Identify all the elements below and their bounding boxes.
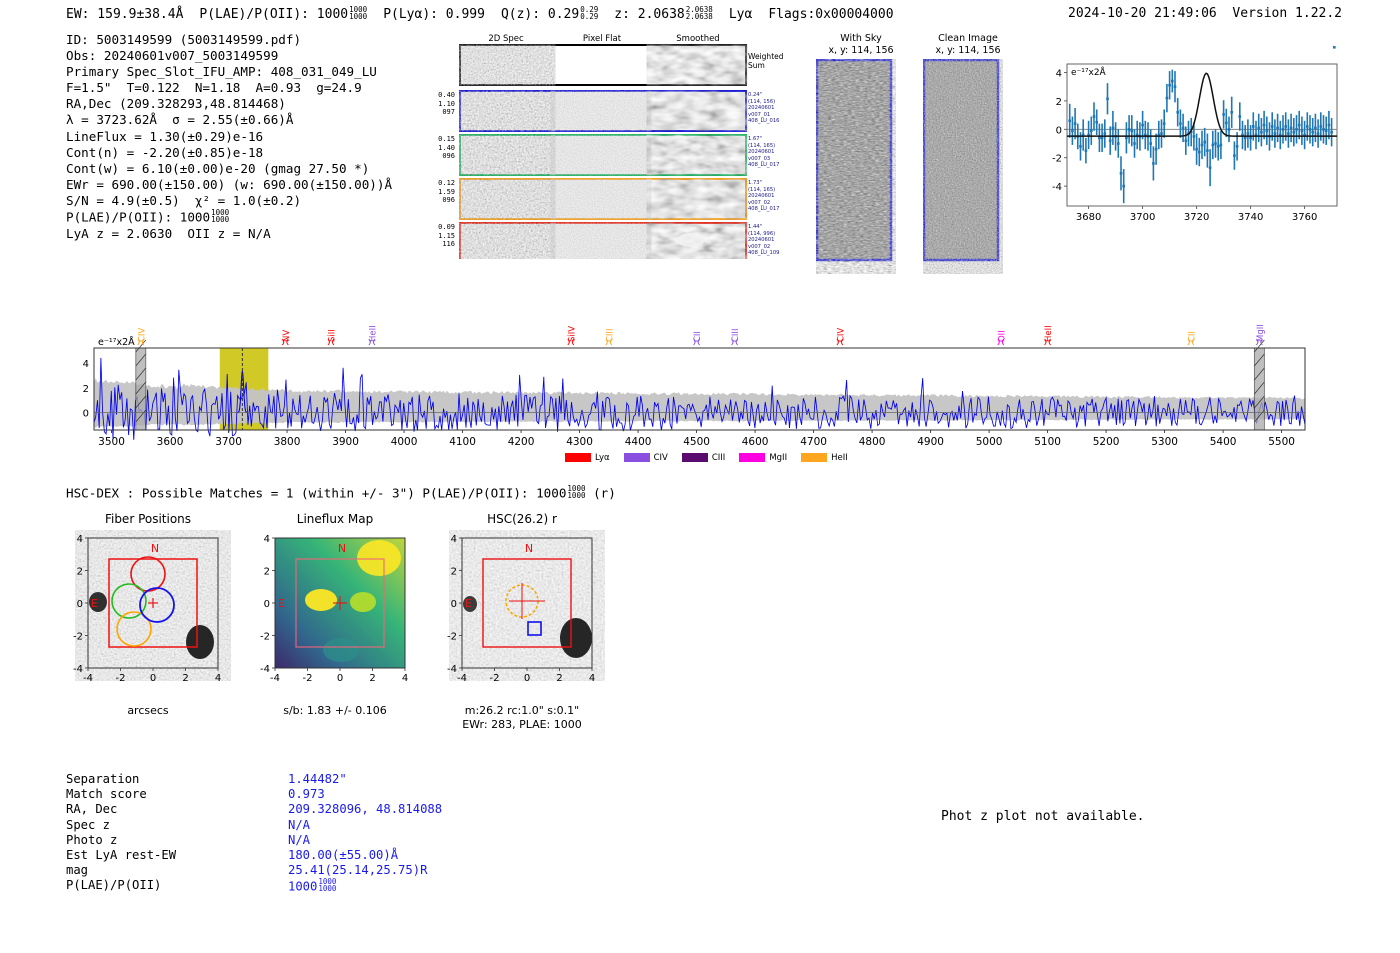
legend-label: MgII <box>769 453 787 463</box>
svg-text:-4: -4 <box>83 673 93 684</box>
svg-text:4300: 4300 <box>566 436 593 448</box>
svg-text:e⁻¹⁷x2Å: e⁻¹⁷x2Å <box>1071 66 1107 78</box>
svg-text:-4: -4 <box>73 664 83 675</box>
svg-text:E: E <box>278 597 285 610</box>
svg-text:3760: 3760 <box>1292 212 1317 223</box>
svg-text:-4: -4 <box>457 673 467 684</box>
exposure-meta: 1.44" (114, 996) 20240601 v007_02 408_LU… <box>748 224 779 257</box>
info-line: ID: 5003149599 (5003149599.pdf) <box>66 32 392 48</box>
svg-text:4: 4 <box>264 534 270 545</box>
info-line: EWr = 690.00(±150.00) (w: 690.00(±150.00… <box>66 177 392 193</box>
svg-text:4: 4 <box>83 359 89 370</box>
exposure-row <box>460 91 746 131</box>
hscdex-headline: HSC-DEX : Possible Matches = 1 (within +… <box>66 485 616 500</box>
svg-text:4200: 4200 <box>508 436 535 448</box>
svg-text:5300: 5300 <box>1151 436 1178 448</box>
photoz-unavailable-note: Phot z plot not available. <box>941 809 1145 824</box>
info-line: Cont(w) = 6.10(±0.00)e-20 (gmag 27.50 *) <box>66 161 392 177</box>
svg-text:4: 4 <box>451 534 457 545</box>
svg-text:3720: 3720 <box>1184 212 1209 223</box>
svg-text:-2: -2 <box>73 632 83 643</box>
cutout-coords: x, y: 114, 156 <box>923 45 1013 56</box>
match-detail-table: Separation 1.44482" Match score 0.973 RA… <box>66 772 526 902</box>
svg-text:5500: 5500 <box>1268 436 1295 448</box>
row-key: Spec z <box>66 818 110 833</box>
svg-text:3800: 3800 <box>274 436 301 448</box>
panel-lineflux-map: Lineflux Map NE-4-2024420-2-4 s/b: 1.83 … <box>245 512 435 526</box>
row-key: mag <box>66 863 88 878</box>
exposure-metric: 0.09 1.15 116 <box>433 223 455 249</box>
svg-text:3740: 3740 <box>1238 212 1263 223</box>
row-key: Est LyA rest-EW <box>66 848 176 863</box>
svg-text:4600: 4600 <box>742 436 769 448</box>
svg-text:2: 2 <box>556 673 562 684</box>
info-line: Cont(n) = -2.20(±0.85)e-18 <box>66 145 392 161</box>
svg-text:4900: 4900 <box>917 436 944 448</box>
svg-text:0: 0 <box>451 599 457 610</box>
row-value: 100010001000 <box>288 878 336 895</box>
table-row: Spec z N/A <box>66 818 526 833</box>
legend-swatch-heii <box>801 453 827 462</box>
header-flags: Flags:0x00004000 <box>768 7 893 22</box>
svg-text:4100: 4100 <box>449 436 476 448</box>
svg-text:4: 4 <box>402 673 408 684</box>
svg-text:5200: 5200 <box>1093 436 1120 448</box>
svg-text:4400: 4400 <box>625 436 652 448</box>
panel-xlabel: arcsecs <box>58 704 238 717</box>
svg-text:4800: 4800 <box>859 436 886 448</box>
row-value: 1.44482" <box>288 772 347 787</box>
panel-fiber-positions: Fiber Positions NE-4-2024420-2-4 arcsecs <box>58 512 248 526</box>
svg-text:3680: 3680 <box>1076 212 1101 223</box>
svg-text:4: 4 <box>589 673 595 684</box>
detection-info-block: ID: 5003149599 (5003149599.pdf) Obs: 202… <box>66 32 392 242</box>
legend-label: Lyα <box>595 453 610 463</box>
legend-label: CIII <box>712 453 725 463</box>
panel-title: Fiber Positions <box>58 512 238 526</box>
header-line-name: Lyα <box>729 7 752 22</box>
svg-text:-4: -4 <box>447 664 457 675</box>
table-row: Match score 0.973 <box>66 787 526 802</box>
svg-text:3700: 3700 <box>215 436 242 448</box>
info-plae: P(LAE)/P(OII): 100010001000 <box>66 209 392 225</box>
svg-text:4: 4 <box>77 534 83 545</box>
legend-swatch-civ <box>624 453 650 462</box>
weighted-sum-row <box>460 45 746 85</box>
exposure-row <box>460 179 746 219</box>
legend-label: CIV <box>654 453 668 463</box>
svg-text:-4: -4 <box>1052 182 1062 193</box>
svg-text:0: 0 <box>264 599 270 610</box>
svg-text:0: 0 <box>150 673 156 684</box>
svg-text:2: 2 <box>83 384 89 395</box>
row-value: 25.41(25.14,25.75)R <box>288 863 427 878</box>
svg-text:-4: -4 <box>260 664 270 675</box>
table-row: RA, Dec 209.328096, 48.814088 <box>66 802 526 817</box>
header-summary-line: EW: 159.9±38.4ÅP(LAE)/P(OII): 1000100010… <box>66 6 910 22</box>
version: Version 1.22.2 <box>1232 6 1342 21</box>
legend-label: HeII <box>831 453 848 463</box>
header-qz: Q(z): 0.290.290.29 <box>501 7 598 22</box>
info-line: S/N = 4.9(±0.5) χ² = 1.0(±0.2) <box>66 193 392 209</box>
svg-text:N: N <box>525 542 533 555</box>
exposure-meta: 1.73" (114, 165) 20240601 v007_02 408_LU… <box>748 180 779 213</box>
svg-text:-2: -2 <box>490 673 500 684</box>
exposure-metric: 0.40 1.10 097 <box>433 91 455 117</box>
row-key: RA, Dec <box>66 802 117 817</box>
svg-text:MgII: MgII <box>1256 324 1266 342</box>
exposure-meta: 1.67" (114, 165) 20240601 v007_03 408_LU… <box>748 136 779 169</box>
table-row: mag 25.41(25.14,25.75)R <box>66 863 526 878</box>
svg-text:N: N <box>151 542 159 555</box>
row-value: N/A <box>288 818 310 833</box>
panel-title: HSC(26.2) r <box>432 512 612 526</box>
timestamp: 2024-10-20 21:49:06 <box>1068 6 1217 21</box>
svg-text:2: 2 <box>1056 97 1062 108</box>
line-zoom-plot: e⁻¹⁷x2Å-4-202436803700372037403760 <box>1035 46 1345 246</box>
cutout-title: Clean Image <box>923 33 1013 44</box>
svg-text:-2: -2 <box>303 673 313 684</box>
svg-text:4: 4 <box>215 673 221 684</box>
svg-text:4: 4 <box>1056 69 1062 80</box>
svg-text:2: 2 <box>264 567 270 578</box>
svg-text:e⁻¹⁷x2Å: e⁻¹⁷x2Å <box>98 336 135 348</box>
svg-text:0: 0 <box>77 599 83 610</box>
panel-sublabel: EWr: 283, PLAE: 1000 <box>432 718 612 731</box>
svg-text:2: 2 <box>369 673 375 684</box>
exposure-row <box>460 223 746 259</box>
exposure-row <box>460 135 746 175</box>
svg-text:4000: 4000 <box>391 436 418 448</box>
svg-text:5000: 5000 <box>976 436 1003 448</box>
svg-text:-2: -2 <box>1052 154 1062 165</box>
exposure-meta: 0.24" (114, 156) 20240601 v007_01 408_LU… <box>748 92 779 125</box>
svg-text:E: E <box>465 597 472 610</box>
svg-text:3500: 3500 <box>98 436 125 448</box>
info-line: λ = 3723.62Å σ = 2.55(±0.66)Å <box>66 112 392 128</box>
panel-xlabel: s/b: 1.83 +/- 0.106 <box>245 704 425 717</box>
table-row: Photo z N/A <box>66 833 526 848</box>
svg-text:-2: -2 <box>116 673 126 684</box>
row-value: 209.328096, 48.814088 <box>288 802 442 817</box>
svg-text:0: 0 <box>83 409 89 420</box>
info-line: Primary Spec_Slot_IFU_AMP: 408_031_049_L… <box>66 64 392 80</box>
header-ew: EW: 159.9±38.4Å <box>66 7 183 22</box>
twod-spec-panel: 2D Spec Pixel Flat Smoothed WeightedSum <box>459 34 759 259</box>
table-row: Separation 1.44482" <box>66 772 526 787</box>
svg-text:3600: 3600 <box>157 436 184 448</box>
full-spectrum-plot: e⁻¹⁷x2Å024350036003700380039004000410042… <box>62 312 1312 472</box>
header-plya: P(Lyα): 0.999 <box>383 7 485 22</box>
cutout-title: With Sky <box>816 33 906 44</box>
panel-hsc-r: HSC(26.2) r NE-4-2024420-2-4 m:26.2 rc:1… <box>432 512 622 526</box>
svg-text:0: 0 <box>1056 125 1062 136</box>
row-value: 0.973 <box>288 787 325 802</box>
header-plae: P(LAE)/P(OII): 100010001000 <box>199 7 367 22</box>
table-row: P(LAE)/P(OII) 100010001000 <box>66 878 526 893</box>
header-redshift: z: 2.06382.06382.0638 <box>614 7 713 22</box>
info-line: LyA z = 2.0630 OII z = N/A <box>66 226 392 242</box>
svg-text:3900: 3900 <box>332 436 359 448</box>
info-line: F=1.5" T=0.122 N=1.18 A=0.93 g=24.9 <box>66 80 392 96</box>
row-key: Match score <box>66 787 147 802</box>
svg-text:N: N <box>338 542 346 555</box>
cutout-coords: x, y: 114, 156 <box>816 45 906 56</box>
row-value: 180.00(±55.00)Å <box>288 848 398 863</box>
svg-text:4700: 4700 <box>800 436 827 448</box>
svg-text:-4: -4 <box>270 673 280 684</box>
svg-text:4500: 4500 <box>683 436 710 448</box>
svg-text:2: 2 <box>77 567 83 578</box>
svg-text:5100: 5100 <box>1034 436 1061 448</box>
row-value: N/A <box>288 833 310 848</box>
info-line: RA,Dec (209.328293,48.814468) <box>66 96 392 112</box>
legend-swatch-ciii <box>682 453 708 462</box>
info-line: LineFlux = 1.30(±0.29)e-16 <box>66 129 392 145</box>
exposure-metric: 0.12 1.59 096 <box>433 179 455 205</box>
legend-swatch-lya <box>565 453 591 462</box>
svg-text:-2: -2 <box>260 632 270 643</box>
header-timestamp-version: 2024-10-20 21:49:06 Version 1.22.2 <box>1068 6 1342 21</box>
svg-text:0: 0 <box>524 673 530 684</box>
svg-text:2: 2 <box>182 673 188 684</box>
full-spectrum-legend: LyαCIVCIIIMgIIHeII <box>565 450 862 464</box>
row-key: Photo z <box>66 833 117 848</box>
panel-title: Lineflux Map <box>245 512 425 526</box>
exposure-metric: 0.15 1.40 096 <box>433 135 455 161</box>
svg-text:5400: 5400 <box>1210 436 1237 448</box>
row-key: Separation <box>66 772 139 787</box>
svg-text:2: 2 <box>451 567 457 578</box>
svg-text:-2: -2 <box>447 632 457 643</box>
info-line: Obs: 20240601v007_5003149599 <box>66 48 392 64</box>
row-key: P(LAE)/P(OII) <box>66 878 161 893</box>
legend-swatch-mgii <box>739 453 765 462</box>
svg-text:0: 0 <box>337 673 343 684</box>
svg-text:E: E <box>91 597 98 610</box>
svg-text:3700: 3700 <box>1130 212 1155 223</box>
panel-xlabel: m:26.2 rc:1.0" s:0.1" <box>432 704 612 717</box>
table-row: Est LyA rest-EW 180.00(±55.00)Å <box>66 848 526 863</box>
